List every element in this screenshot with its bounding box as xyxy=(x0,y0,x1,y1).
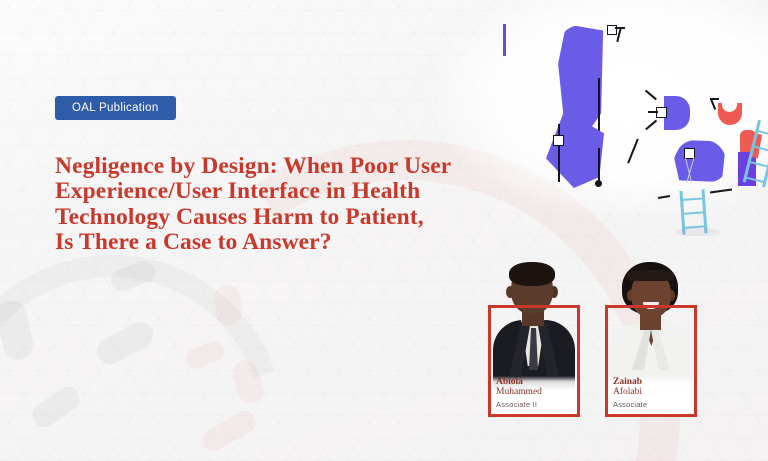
ladder-shadow xyxy=(674,228,720,236)
tick-mark-right xyxy=(710,188,732,193)
rod-end-dot xyxy=(595,180,602,187)
author-role: Associate xyxy=(613,399,647,410)
author-first-name: Abiola xyxy=(496,377,542,388)
author-last-name: Muhammed xyxy=(496,387,542,398)
blade-rod-lower xyxy=(558,124,560,182)
author-caption-2: Zainab Afolabi Associate xyxy=(613,377,647,411)
connector-square-lower xyxy=(553,135,564,146)
publication-poster: OAL Publication Negligence by Design: Wh… xyxy=(0,0,768,461)
blade-rod-lower-right xyxy=(598,148,600,184)
author-role: Associate II xyxy=(496,399,542,410)
publication-badge[interactable]: OAL Publication xyxy=(55,96,176,120)
publication-badge-label: OAL Publication xyxy=(72,102,159,114)
tick-mark-left xyxy=(658,195,670,199)
title-line-4: Is There a Case to Answer? xyxy=(55,230,550,256)
fan-arm-a xyxy=(645,90,657,100)
page-title: Negligence by Design: When Poor User Exp… xyxy=(55,154,550,256)
author-card-abiola-muhammed[interactable]: Abiola Muhammed Associate II xyxy=(488,305,580,417)
flag-pole xyxy=(616,28,621,42)
author-caption-1: Abiola Muhammed Associate II xyxy=(496,377,542,411)
purple-fan-shape-mid xyxy=(664,96,690,130)
title-line-2: Experience/User Interface in Health xyxy=(55,179,550,205)
title-line-3: Technology Causes Harm to Patient, xyxy=(55,205,550,231)
cup-arm-top xyxy=(710,98,719,100)
hair xyxy=(509,262,555,286)
cup-arm-left xyxy=(710,98,716,110)
author-first-name: Zainab xyxy=(613,377,647,388)
author-card-zainab-afolabi[interactable]: Zainab Afolabi Associate xyxy=(605,305,697,417)
fan-arm-c xyxy=(648,111,658,113)
title-line-1: Negligence by Design: When Poor User xyxy=(55,154,550,180)
diagonal-stroke xyxy=(627,139,638,164)
author-last-name: Afolabi xyxy=(613,387,647,398)
purple-fan-shape-large xyxy=(674,140,726,182)
purple-bar-icon xyxy=(503,24,506,56)
fan-arm-b xyxy=(645,120,657,130)
hair-band xyxy=(626,270,674,281)
